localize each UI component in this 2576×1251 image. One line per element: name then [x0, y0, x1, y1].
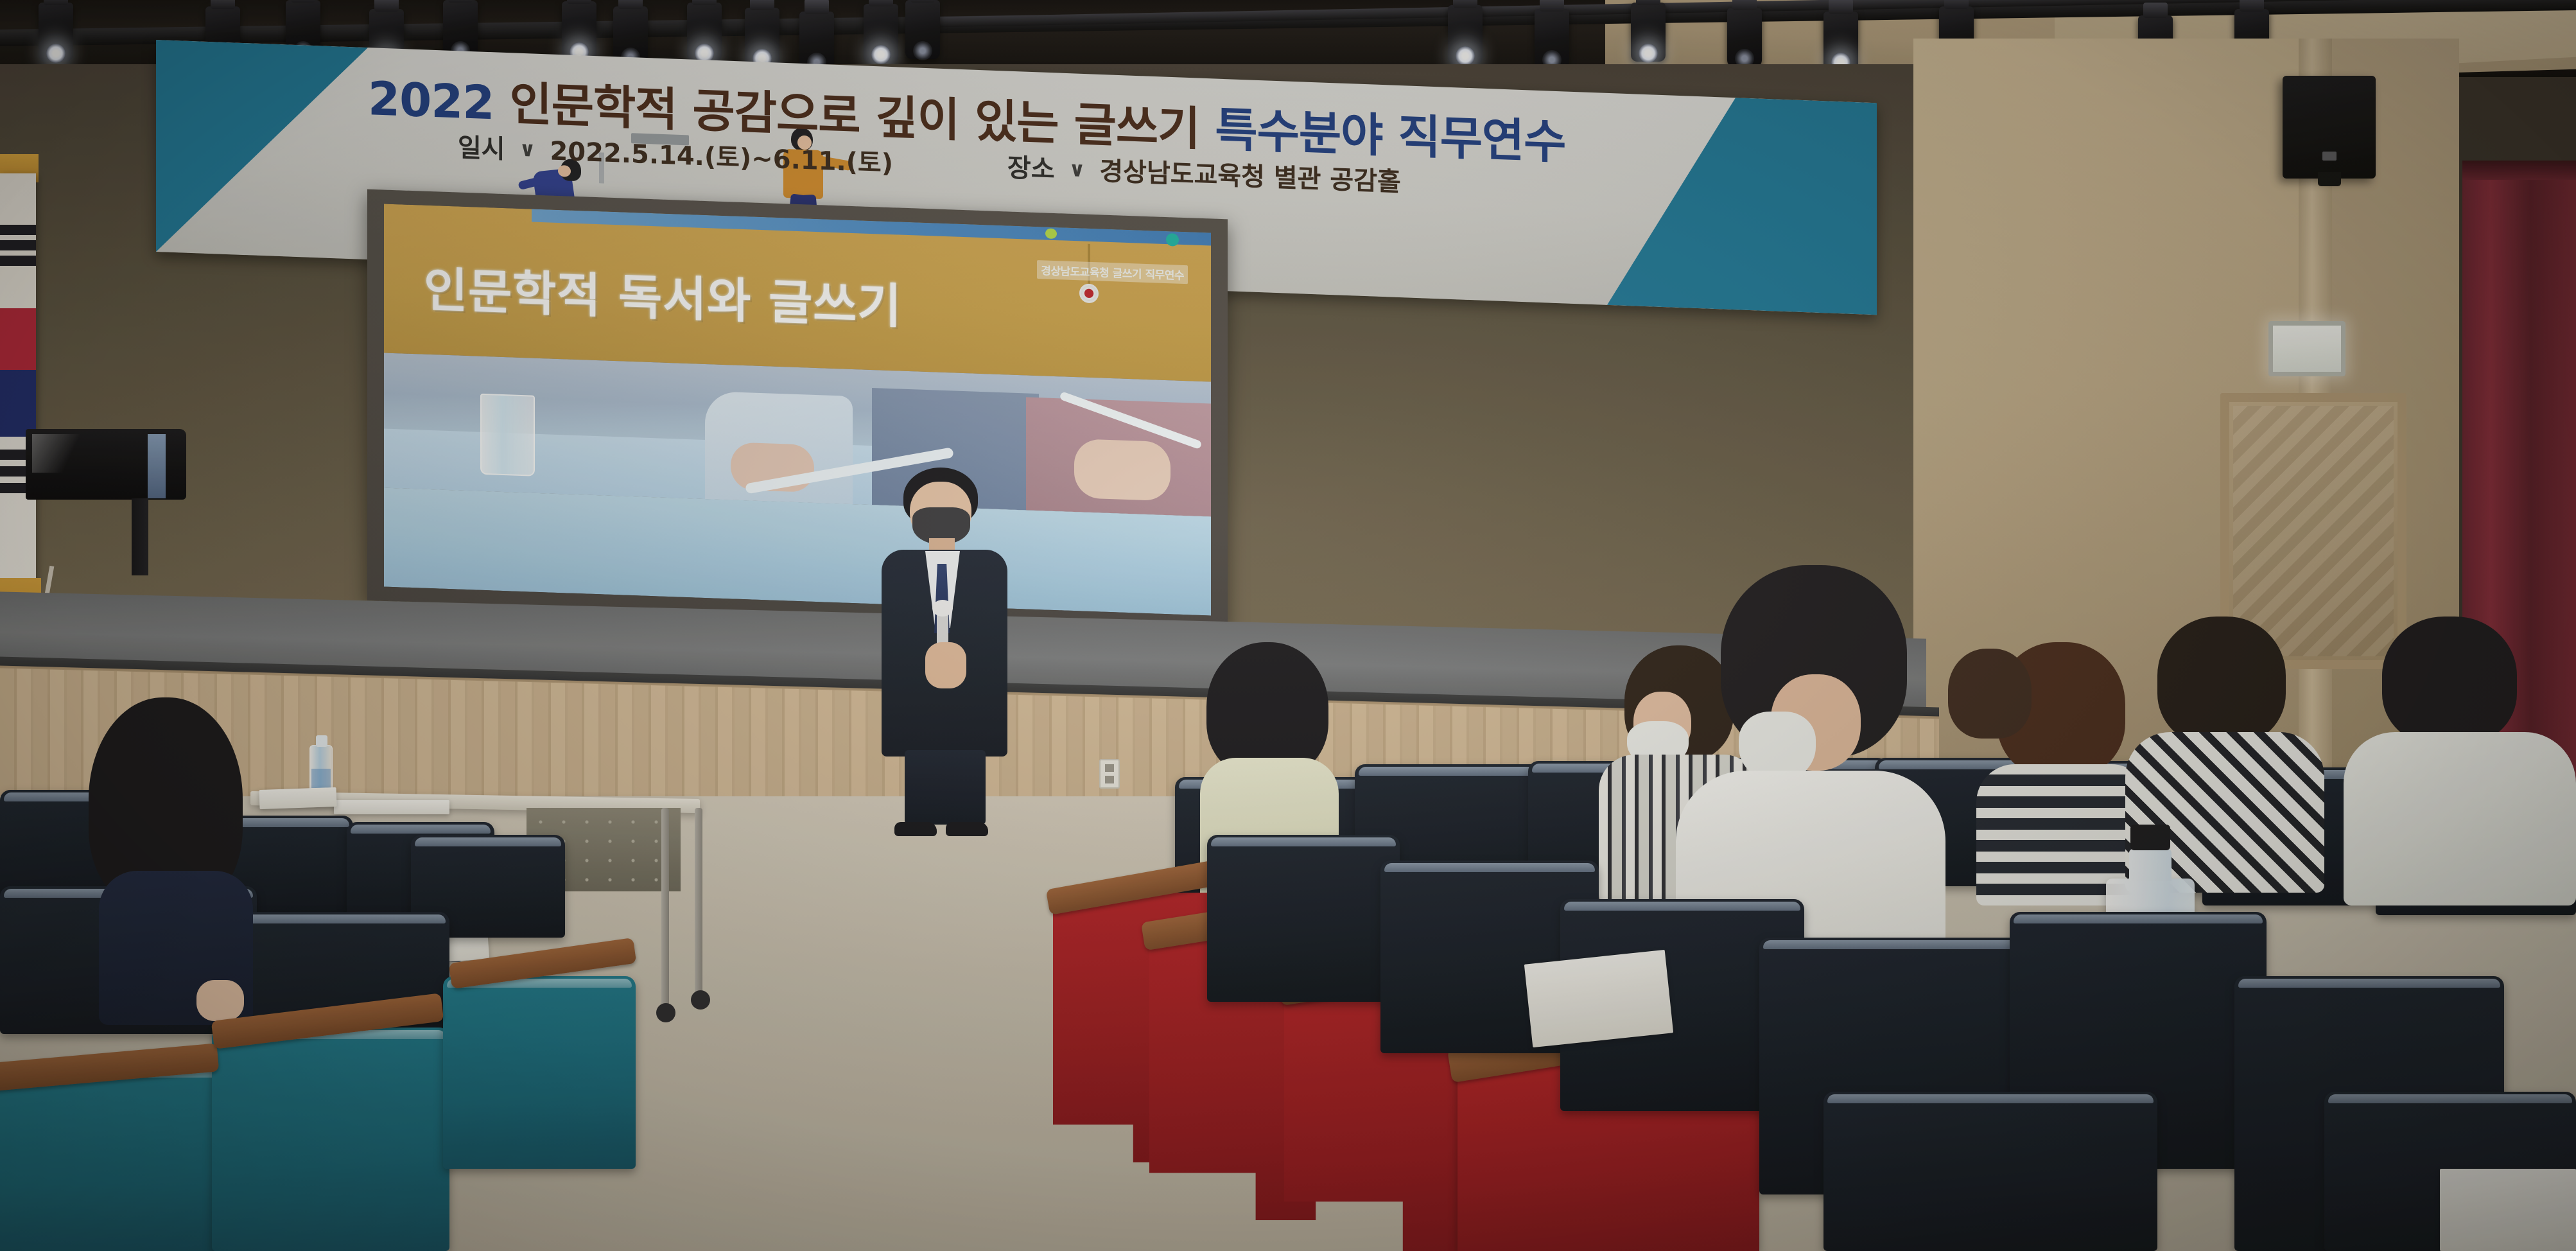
stage-spotlight-icon	[39, 3, 73, 62]
stage-curtain-valance	[2462, 161, 2576, 180]
table-caster	[656, 1003, 675, 1022]
banner-place-value: 경상남도교육청 별관 공감홀	[1099, 157, 1400, 197]
piano-lid-highlight	[32, 434, 103, 473]
stage-spotlight-icon	[905, 0, 940, 59]
torso	[2344, 732, 2576, 905]
slide-top-strip	[532, 209, 1211, 246]
presenter	[870, 468, 1018, 801]
chevron-down-icon: ∨	[514, 136, 541, 162]
hair	[2382, 617, 2517, 745]
stage-spotlight-icon	[1823, 12, 1858, 71]
handout-paper	[334, 800, 449, 814]
slide-title: 인문학적 독서와 글쓰기	[424, 252, 901, 337]
seat[interactable]	[212, 1028, 449, 1251]
stage-spotlight-icon	[562, 1, 596, 60]
handout-paper	[2440, 1169, 2576, 1251]
stage-spotlight-icon	[1448, 5, 1483, 64]
projection-screen: 경상남도교육청 글쓰기 직무연수 인문학적 독서와 글쓰기	[384, 204, 1211, 616]
slide-title-band: 경상남도교육청 글쓰기 직무연수 인문학적 독서와 글쓰기	[384, 204, 1211, 382]
banner-date-label: 일시	[458, 133, 505, 164]
seat[interactable]	[1207, 835, 1400, 1002]
stage-spotlight-icon	[745, 8, 779, 67]
slide-org-logo: 경상남도교육청 글쓰기 직무연수	[1037, 260, 1188, 284]
handout-paper	[259, 787, 337, 809]
stage-spotlight-icon	[799, 12, 834, 71]
slide-dot-teal-icon	[1166, 233, 1179, 247]
audience-member	[76, 697, 268, 1006]
hair	[1206, 642, 1328, 777]
banner-year: 2022	[368, 71, 494, 130]
stage-spotlight-icon	[864, 4, 898, 63]
piano-side-panel	[148, 434, 166, 498]
wall-outlet-icon	[1099, 759, 1120, 789]
pump-nozzle-icon[interactable]	[2130, 825, 2170, 850]
hair	[1948, 649, 2032, 739]
audience-member	[1933, 649, 2048, 803]
speaker-brand-logo	[2322, 152, 2337, 161]
hair	[2157, 617, 2286, 745]
piano-leg	[132, 498, 148, 575]
auditorium-photo: 2022 인문학적 공감으로 깊이 있는 글쓰기 특수분야 직무연수 일시 ∨ …	[0, 0, 2576, 1251]
stage-spotlight-icon	[687, 3, 722, 62]
illuminated-wall-panel	[2268, 321, 2345, 376]
slide-dot-green-icon	[1045, 228, 1057, 239]
seat[interactable]	[0, 1066, 225, 1251]
chevron-down-icon: ∨	[1063, 157, 1090, 182]
table-leg	[695, 808, 702, 1001]
wall-speaker-icon	[2283, 76, 2376, 179]
seat[interactable]	[443, 976, 636, 1169]
banner-place-label: 장소	[1007, 153, 1055, 185]
table-leg	[661, 808, 669, 1013]
stage-spotlight-icon	[1631, 3, 1666, 62]
stage-spotlight-icon	[1535, 9, 1569, 68]
handout-paper	[1524, 950, 1673, 1047]
slide-water-glass-icon	[480, 394, 535, 477]
korean-flag-icon	[0, 173, 36, 584]
stage-spotlight-icon	[1727, 8, 1762, 67]
table-caster	[691, 990, 710, 1010]
audience-member	[2337, 617, 2576, 905]
seat[interactable]	[1823, 1092, 2157, 1251]
slide-seal-icon	[1079, 283, 1099, 303]
projection-screen-frame: 경상남도교육청 글쓰기 직무연수 인문학적 독서와 글쓰기	[367, 189, 1228, 631]
